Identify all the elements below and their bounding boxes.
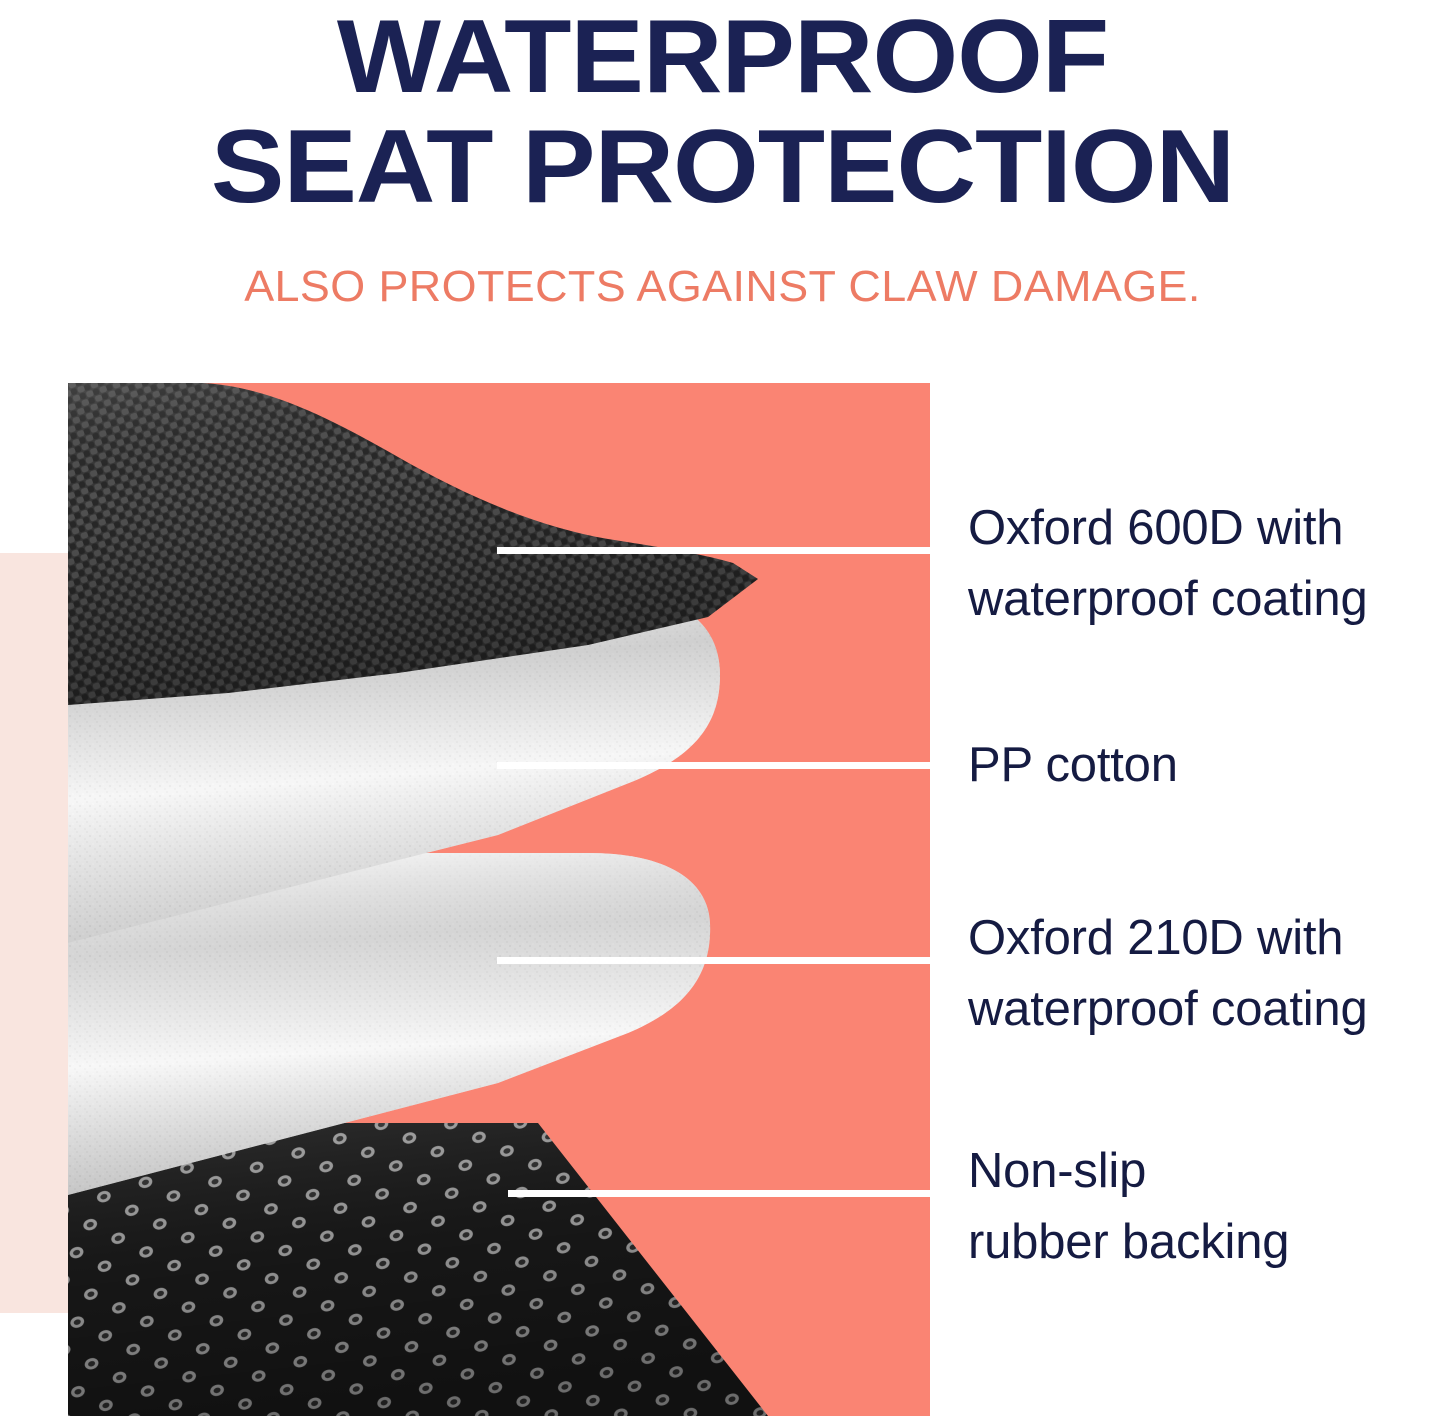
left-accent-block (0, 553, 68, 1313)
leader-line-2 (497, 762, 930, 769)
fabric-layers-svg (68, 383, 930, 1416)
callout-label-non-slip-backing: Non-slip rubber backing (968, 1136, 1445, 1278)
callout-label-oxford-600d: Oxford 600D with waterproof coating (968, 493, 1445, 635)
leader-line-1 (497, 547, 930, 554)
page-title: WATERPROOF SEAT PROTECTION (0, 2, 1445, 222)
callout-label-oxford-210d: Oxford 210D with waterproof coating (968, 903, 1445, 1045)
callout-label-pp-cotton: PP cotton (968, 730, 1445, 801)
leader-line-4 (508, 1190, 930, 1197)
header-section: WATERPROOF SEAT PROTECTION ALSO PROTECTS… (0, 0, 1445, 330)
fabric-layers-illustration (68, 383, 930, 1416)
leader-line-3 (497, 957, 930, 964)
page-subtitle: ALSO PROTECTS AGAINST CLAW DAMAGE. (0, 262, 1445, 312)
